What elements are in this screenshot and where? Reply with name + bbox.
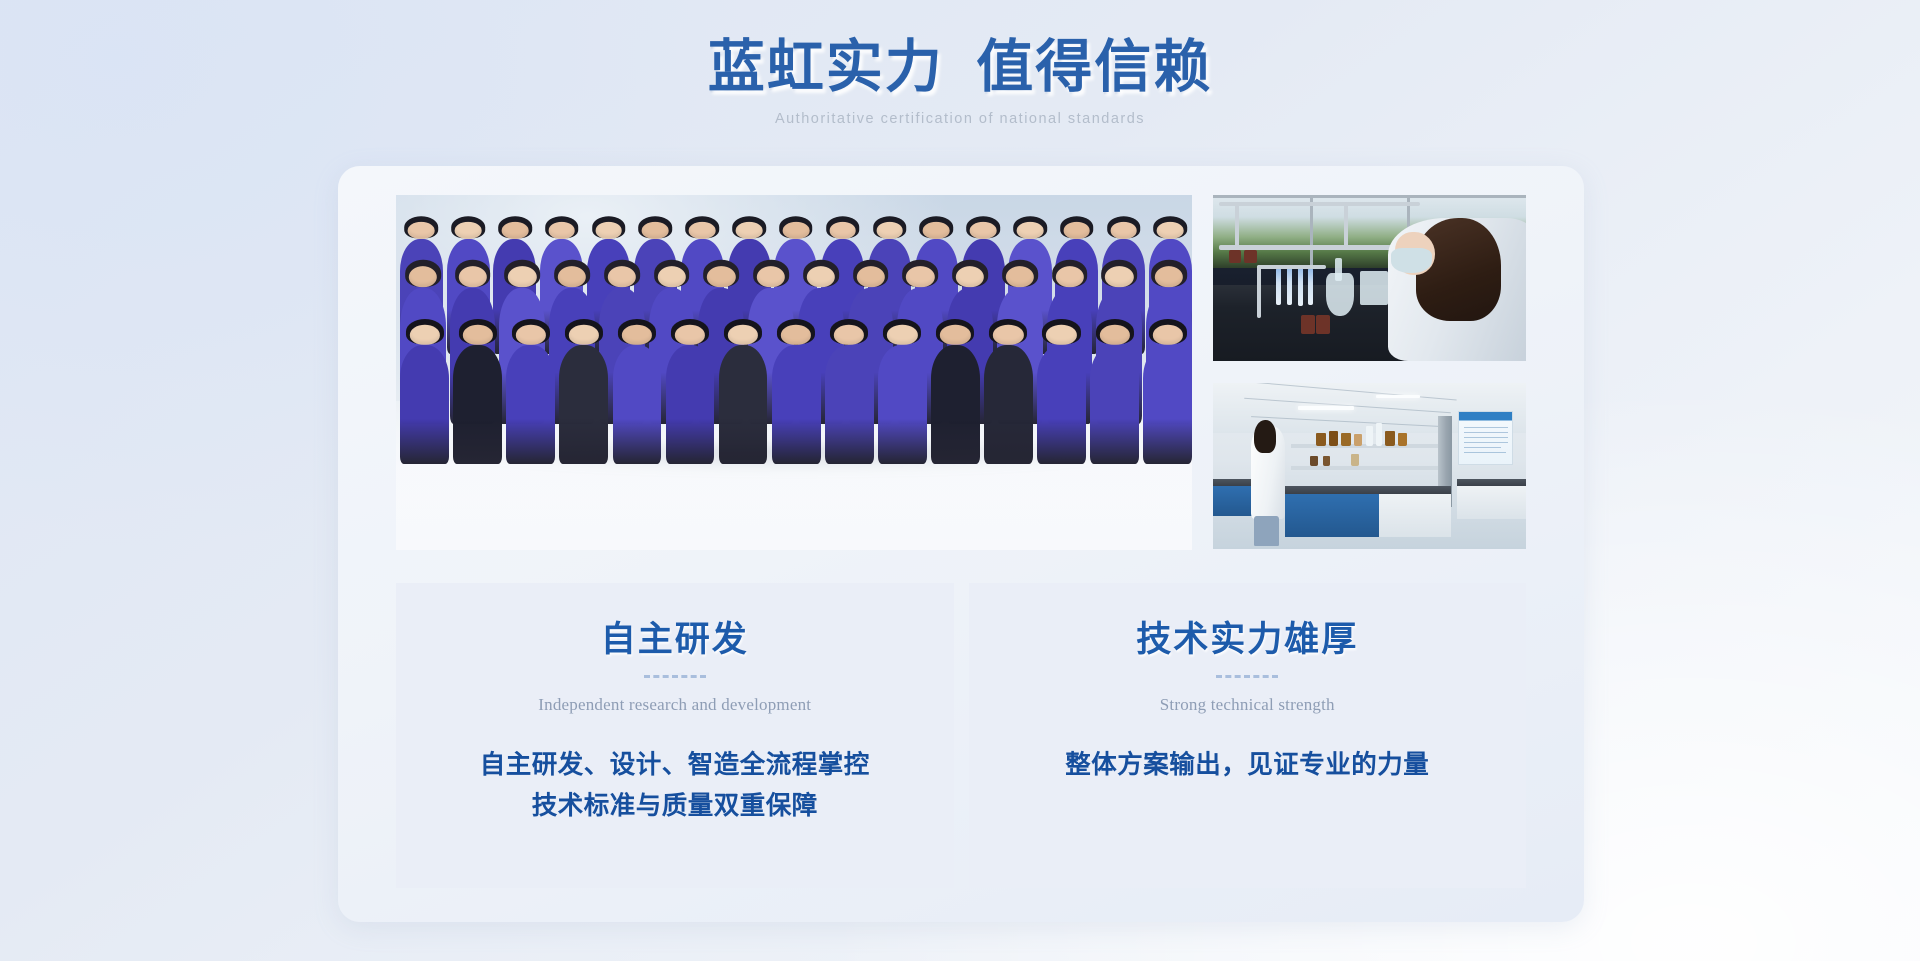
- lab2-glass-tube-1: [1366, 426, 1372, 446]
- lab1-rack-post: [1257, 265, 1261, 318]
- lab-technician-photo[interactable]: [1213, 195, 1526, 361]
- lab1-technician-hair: [1416, 218, 1501, 321]
- staff-member: [506, 345, 555, 464]
- staff-face: [1099, 325, 1129, 345]
- staff-face: [876, 222, 903, 239]
- lab2-white-cabinet: [1379, 494, 1451, 537]
- page-header: 蓝虹实力 值得信赖 Authoritative certification of…: [0, 34, 1920, 127]
- feature-card-subtitle: Independent research and development: [538, 695, 811, 715]
- feature-card-body: 整体方案输出，见证专业的力量: [1065, 744, 1429, 785]
- staff-face: [558, 266, 586, 288]
- staff-face: [1105, 266, 1133, 288]
- staff-face: [923, 222, 950, 239]
- lab2-bottle-6: [1398, 433, 1407, 446]
- page-title: 蓝虹实力 值得信赖: [0, 34, 1920, 102]
- lab1-pipette-4: [1308, 268, 1313, 305]
- lab1-reagent-2: [1316, 315, 1330, 335]
- feature-card-technical-strength[interactable]: 技术实力雄厚 Strong technical strength 整体方案输出，…: [969, 583, 1527, 888]
- staff-face: [502, 222, 529, 239]
- lab2-right-cabinet: [1457, 486, 1526, 519]
- staff-member: [400, 345, 449, 464]
- lab-technician-scene: [1213, 195, 1526, 361]
- lab1-top-rail: [1219, 202, 1419, 206]
- lab2-bottle-7: [1310, 456, 1318, 466]
- lab2-bottle-8: [1323, 456, 1331, 466]
- staff-face: [956, 266, 984, 288]
- staff-face: [1157, 222, 1184, 239]
- staff-face: [807, 266, 835, 288]
- staff-face: [508, 266, 536, 288]
- lab2-poster-line-1: [1464, 427, 1509, 428]
- staff-face: [736, 222, 763, 239]
- staff-face: [455, 222, 482, 239]
- staff-face: [970, 222, 997, 239]
- staff-face: [829, 222, 856, 239]
- staff-member: [878, 345, 927, 464]
- staff-member: [719, 345, 768, 464]
- lab2-technician-hair: [1254, 420, 1276, 453]
- dashed-divider-icon: [1216, 675, 1278, 678]
- staff-face: [689, 222, 716, 239]
- staff-face: [516, 325, 546, 345]
- lab2-reagent-shelf-lower: [1291, 466, 1448, 470]
- staff-face: [548, 222, 575, 239]
- staff-face: [993, 325, 1023, 345]
- lab1-reagent-4: [1244, 250, 1257, 263]
- staff-face: [783, 222, 810, 239]
- lab2-poster-line-4: [1464, 442, 1509, 443]
- staff-member: [825, 345, 874, 464]
- staff-face: [1063, 222, 1090, 239]
- company-group-photo[interactable]: [396, 195, 1192, 550]
- staff-crowd: [396, 231, 1192, 451]
- staff-face: [1006, 266, 1034, 288]
- staff-face: [409, 266, 437, 288]
- lab2-bottle-1: [1316, 433, 1325, 446]
- lab2-bottle-2: [1329, 431, 1338, 446]
- lab2-bottle-9: [1351, 454, 1359, 466]
- staff-face: [887, 325, 917, 345]
- dashed-divider-icon: [644, 675, 706, 678]
- lab2-poster-line-3: [1464, 437, 1509, 438]
- staff-member: [559, 345, 608, 464]
- staff-face: [410, 325, 440, 345]
- lab2-poster-line-6: [1464, 452, 1507, 453]
- staff-face: [608, 266, 636, 288]
- feature-card-body-line: 自主研发、设计、智造全流程掌控: [480, 744, 870, 785]
- lab2-side-benchtop: [1213, 479, 1254, 486]
- staff-face: [1155, 266, 1183, 288]
- staff-face: [622, 325, 652, 345]
- laboratory-room-photo[interactable]: [1213, 383, 1526, 549]
- lab2-island-benchtop: [1282, 486, 1451, 494]
- feature-card-title: 技术实力雄厚: [1136, 618, 1358, 662]
- staff-member: [1037, 345, 1086, 464]
- lab1-technician-mask: [1391, 248, 1432, 273]
- feature-card-independent-rd[interactable]: 自主研发 Independent research and developmen…: [396, 583, 954, 888]
- lab2-safety-poster: [1458, 411, 1513, 464]
- staff-face: [1017, 222, 1044, 239]
- lab1-rail-post-2: [1344, 202, 1348, 248]
- lab2-glass-tube-2: [1376, 423, 1382, 446]
- staff-member: [613, 345, 662, 464]
- staff-member: [984, 345, 1033, 464]
- staff-face: [856, 266, 884, 288]
- staff-member: [453, 345, 502, 464]
- lab1-pipette-1: [1276, 268, 1281, 305]
- staff-face: [906, 266, 934, 288]
- lab1-pipette-rack: [1257, 265, 1326, 269]
- staff-face: [642, 222, 669, 239]
- staff-face: [675, 325, 705, 345]
- page-subtitle: Authoritative certification of national …: [0, 111, 1920, 127]
- staff-face: [569, 325, 599, 345]
- staff-face: [458, 266, 486, 288]
- side-photo-column: [1213, 195, 1526, 550]
- staff-face: [728, 325, 758, 345]
- laboratory-room-scene: [1213, 383, 1526, 549]
- feature-card-body-line: 技术标准与质量双重保障: [480, 785, 870, 826]
- lab1-rail-post-1: [1235, 202, 1239, 248]
- staff-face: [834, 325, 864, 345]
- lab1-reagent-3: [1229, 250, 1242, 263]
- staff-face: [408, 222, 435, 239]
- lab2-technician-jeans: [1254, 516, 1279, 546]
- feature-card-subtitle: Strong technical strength: [1160, 695, 1335, 715]
- staff-face: [707, 266, 735, 288]
- staff-face: [657, 266, 685, 288]
- staff-face: [1046, 325, 1076, 345]
- lab2-right-benchtop: [1457, 479, 1526, 486]
- lab2-poster-line-2: [1464, 432, 1509, 433]
- lab2-light-tube-2: [1376, 395, 1420, 398]
- staff-member: [1090, 345, 1139, 464]
- feature-card-body: 自主研发、设计、智造全流程掌控 技术标准与质量双重保障: [480, 744, 870, 826]
- staff-face: [1055, 266, 1083, 288]
- lab2-poster-line-5: [1464, 447, 1501, 448]
- lab2-bottle-5: [1385, 431, 1394, 446]
- lab2-blue-cabinet: [1285, 494, 1379, 537]
- staff-face: [757, 266, 785, 288]
- staff-face: [595, 222, 622, 239]
- staff-member: [1143, 345, 1192, 464]
- lab2-side-cabinet: [1213, 486, 1254, 516]
- lab2-bottle-4: [1354, 434, 1362, 446]
- feature-card-body-line: 整体方案输出，见证专业的力量: [1065, 744, 1429, 785]
- staff-face: [1110, 222, 1137, 239]
- media-gallery: [396, 195, 1526, 550]
- lab1-pipette-2: [1287, 266, 1292, 304]
- staff-face: [940, 325, 970, 345]
- lab2-light-tube-1: [1298, 406, 1354, 410]
- lab1-pipette-3: [1298, 266, 1303, 306]
- lab1-window-mullion-1: [1310, 195, 1313, 268]
- staff-face: [781, 325, 811, 345]
- feature-cards: 自主研发 Independent research and developmen…: [396, 583, 1526, 888]
- group-photo-scene: [396, 195, 1192, 550]
- lab1-flask-neck: [1335, 258, 1342, 281]
- staff-member: [772, 345, 821, 464]
- lab2-bottle-3: [1341, 433, 1350, 446]
- lab1-reagent-1: [1301, 315, 1315, 335]
- lab1-beaker: [1360, 271, 1388, 304]
- staff-member: [931, 345, 980, 464]
- staff-member: [666, 345, 715, 464]
- content-panel: 自主研发 Independent research and developmen…: [338, 166, 1584, 922]
- promo-page: 蓝虹实力 值得信赖 Authoritative certification of…: [0, 0, 1920, 961]
- staff-face: [1152, 325, 1182, 345]
- feature-card-title: 自主研发: [601, 618, 749, 662]
- lab1-window-frame-top: [1213, 195, 1526, 198]
- staff-face: [463, 325, 493, 345]
